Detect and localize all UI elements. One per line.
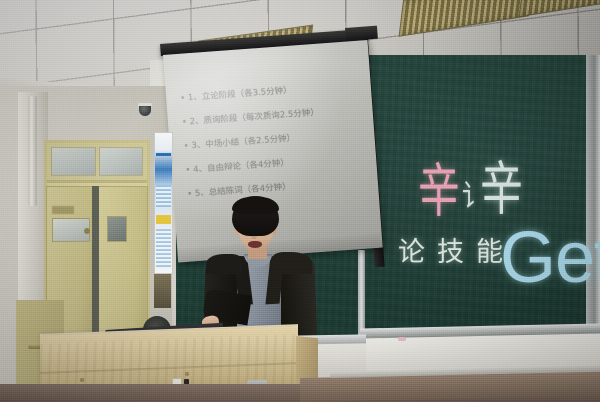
podium-screw bbox=[80, 378, 84, 382]
podium-screw bbox=[185, 372, 189, 376]
classroom-photo: 辛 讠 辛 论技能 Get • 1、立论阶段（各3.5分钟） • 2、质询阶段（… bbox=[0, 0, 600, 402]
door-transom-window bbox=[47, 143, 147, 183]
chalk-char-left-radical: 辛 bbox=[418, 162, 460, 220]
chalkboard-frame bbox=[586, 55, 600, 355]
door-sign bbox=[52, 206, 74, 214]
screen-roller-housing-end bbox=[345, 26, 378, 41]
door-window-pane bbox=[107, 216, 127, 242]
transom-pane bbox=[51, 147, 96, 176]
wall-lower-panel bbox=[154, 274, 171, 308]
blazer-shoulder bbox=[206, 254, 242, 274]
wall-poster bbox=[154, 132, 173, 274]
chalk-piece bbox=[398, 337, 406, 341]
poster-band bbox=[156, 215, 171, 224]
chalk-subline: 论技能 bbox=[398, 238, 515, 268]
poster-band bbox=[156, 185, 171, 207]
door-knob[interactable] bbox=[84, 228, 90, 234]
hair-fringe bbox=[232, 197, 279, 214]
security-camera-icon bbox=[137, 103, 153, 116]
poster-band bbox=[156, 153, 171, 156]
camera-dome bbox=[139, 106, 151, 116]
mouth bbox=[248, 241, 262, 248]
transom-pane bbox=[99, 147, 144, 176]
wall-pipe bbox=[28, 96, 37, 206]
chalk-char-right-radical: 辛 bbox=[480, 160, 523, 218]
chalk-english-word: Get bbox=[500, 222, 600, 294]
poster-band bbox=[156, 229, 171, 269]
blazer-shoulder bbox=[272, 252, 312, 274]
